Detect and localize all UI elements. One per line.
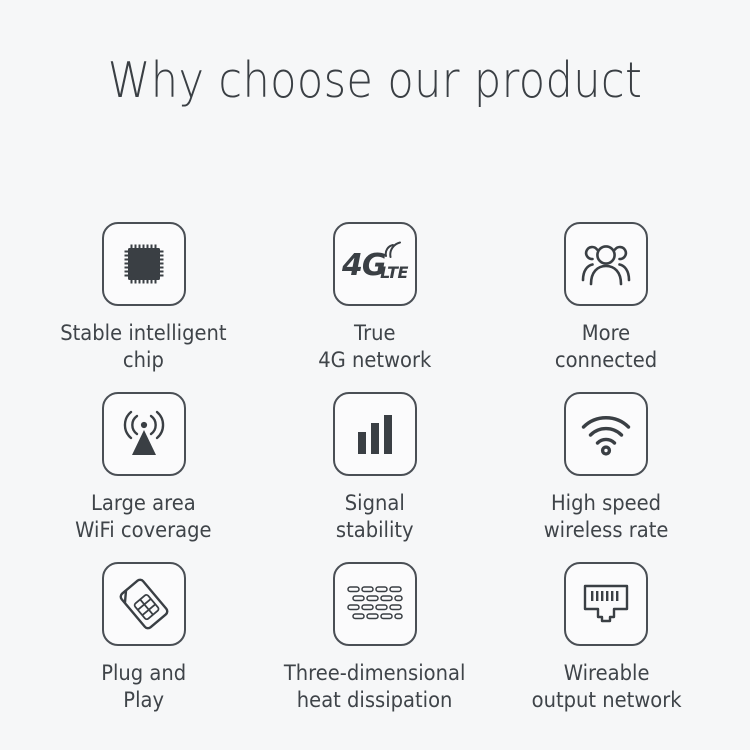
feature-item-signal-stability: Signal stability bbox=[259, 392, 490, 562]
icon-box: 4G LTE bbox=[333, 222, 417, 306]
signal-bars-icon bbox=[352, 412, 398, 456]
wifi-icon bbox=[579, 412, 633, 456]
signal-arcs-icon bbox=[382, 238, 406, 260]
feature-label: Large area WiFi coverage bbox=[75, 490, 211, 544]
feature-label: High speed wireless rate bbox=[544, 490, 669, 544]
icon-box bbox=[102, 222, 186, 306]
feature-item-stable-intelligent-chip: Stable intelligent chip bbox=[28, 222, 259, 392]
feature-label: True 4G network bbox=[318, 320, 431, 374]
feature-label: Three-dimensional heat dissipation bbox=[284, 660, 466, 714]
4g-text: 4G bbox=[342, 248, 386, 283]
feature-item-true-4g-network: 4G LTE True 4G network bbox=[259, 222, 490, 392]
feature-label: More connected bbox=[555, 320, 657, 374]
4g-lte-icon: 4G LTE bbox=[342, 239, 408, 289]
icon-box bbox=[564, 562, 648, 646]
icon-box bbox=[102, 392, 186, 476]
icon-box bbox=[333, 392, 417, 476]
feature-item-heat-dissipation: Three-dimensional heat dissipation bbox=[259, 562, 490, 732]
heat-vent-grid-icon bbox=[345, 585, 405, 623]
feature-item-wireable-output-network: Wireable output network bbox=[491, 562, 722, 732]
sim-card-icon bbox=[116, 576, 172, 632]
feature-label: Wireable output network bbox=[531, 660, 681, 714]
feature-item-high-speed-wireless-rate: High speed wireless rate bbox=[491, 392, 722, 562]
icon-box bbox=[564, 392, 648, 476]
feature-label: Stable intelligent chip bbox=[61, 320, 227, 374]
rj45-ethernet-port-icon bbox=[580, 582, 632, 626]
lte-text: LTE bbox=[380, 263, 408, 282]
feature-grid: Stable intelligent chip 4G LTE bbox=[28, 222, 722, 732]
feature-highlights-page: Why choose our product bbox=[0, 0, 750, 750]
feature-item-large-area-wifi-coverage: Large area WiFi coverage bbox=[28, 392, 259, 562]
feature-item-plug-and-play: Plug and Play bbox=[28, 562, 259, 732]
page-title: Why choose our product bbox=[45, 52, 705, 109]
feature-label: Plug and Play bbox=[101, 660, 186, 714]
icon-box bbox=[333, 562, 417, 646]
broadcast-antenna-icon bbox=[116, 408, 172, 460]
feature-label: Signal stability bbox=[336, 490, 414, 544]
feature-item-more-connected: More connected bbox=[491, 222, 722, 392]
group-people-icon bbox=[579, 240, 633, 288]
cpu-chip-icon bbox=[119, 239, 169, 289]
icon-box bbox=[102, 562, 186, 646]
icon-box bbox=[564, 222, 648, 306]
